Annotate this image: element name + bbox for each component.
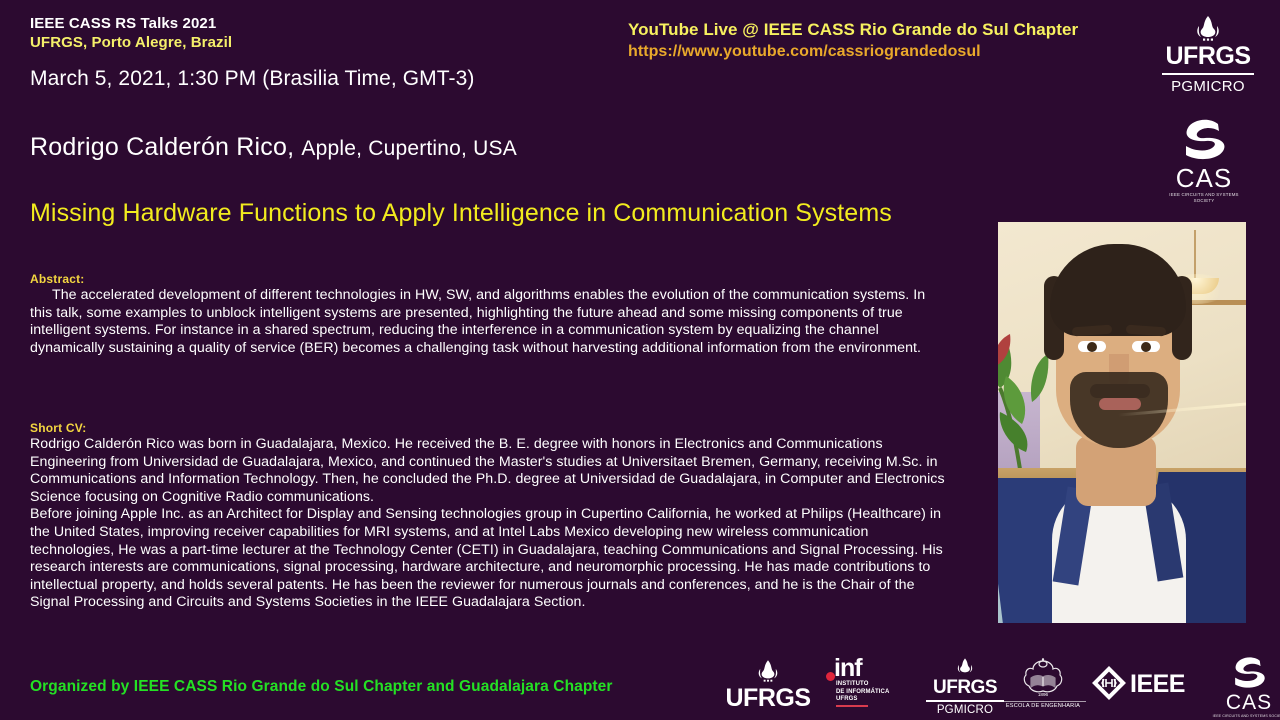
stream-url-link[interactable]: https://www.youtube.com/cassriograndedos… [628, 41, 1128, 63]
abstract-label: Abstract: [30, 272, 938, 287]
organized-by-text: Organized by IEEE CASS Rio Grande do Sul… [30, 678, 613, 696]
inf-underline [836, 705, 868, 707]
inf-line-1: INSTITUTO [820, 681, 920, 689]
footer-logo-strip: UFRGS inf INSTITUTO DE INFORMÁTICA UFRGS… [700, 652, 1270, 714]
inf-dot-icon [826, 672, 835, 681]
ufrgs-divider [1162, 73, 1254, 75]
ieee-wordmark: IEEE [1130, 670, 1185, 698]
pgmicro-ufrgs-wordmark: UFRGS [922, 677, 1008, 698]
event-header-left: IEEE CASS RS Talks 2021 UFRGS, Porto Ale… [30, 14, 650, 92]
photo-pupil-right [1141, 342, 1151, 352]
pgmicro-wordmark: PGMICRO [922, 704, 1008, 717]
svg-text:1896: 1896 [1038, 692, 1049, 697]
abstract-text: The accelerated development of different… [30, 287, 938, 357]
ufrgs-pgmicro-logo: UFRGS PGMICRO [1160, 16, 1256, 95]
speaker-affiliation: Apple, Cupertino, USA [301, 137, 516, 160]
event-location: UFRGS, Porto Alegre, Brazil [30, 33, 650, 52]
short-cv-label: Short CV: [30, 421, 945, 436]
speaker-photo [998, 222, 1246, 623]
pgmicro-wordmark: PGMICRO [1160, 78, 1256, 95]
footer-cas-logo: CAS IEEE CIRCUITS AND SYSTEMS SOCIETY [1212, 656, 1280, 719]
speaker-name: Rodrigo Calderón Rico, [30, 133, 294, 161]
photo-mouth [1099, 398, 1141, 410]
speaker-line: Rodrigo Calderón Rico, Apple, Cupertino,… [30, 133, 517, 162]
photo-moustache [1090, 384, 1150, 398]
short-cv-paragraph-2: Before joining Apple Inc. as an Architec… [30, 506, 945, 612]
short-cv-section: Short CV: Rodrigo Calderón Rico was born… [30, 421, 945, 612]
footer-ieee-logo: IEEE [1092, 670, 1222, 699]
footer-inf-logo: inf INSTITUTO DE INFORMÁTICA UFRGS [820, 656, 920, 707]
footer-ufrgs-wordmark: UFRGS [726, 684, 811, 712]
footer-escola-engenharia-logo: 1896 ESCOLA DE ENGENHARIA [1000, 656, 1086, 709]
abstract-section: Abstract: The accelerated development of… [30, 272, 938, 357]
ufrgs-wordmark: UFRGS [1160, 43, 1256, 70]
inf-line-2: DE INFORMÁTICA [820, 689, 920, 697]
ufrgs-flame-icon [1193, 16, 1223, 42]
cas-wordmark: CAS [1164, 164, 1244, 192]
cas-tagline: IEEE CIRCUITS AND SYSTEMS SOCIETY [1212, 714, 1280, 719]
escola-crest-icon: 1896 [1017, 656, 1069, 700]
cas-wordmark: CAS [1212, 691, 1280, 714]
cas-tagline: IEEE CIRCUITS AND SYSTEMS SOCIETY [1164, 192, 1244, 204]
footer-ufrgs-logo: UFRGS [712, 660, 824, 713]
photo-pupil-left [1087, 342, 1097, 352]
ufrgs-flame-icon [955, 658, 975, 676]
cas-swirl-icon [1178, 118, 1230, 162]
escola-engenharia-label: ESCOLA DE ENGENHARIA [1000, 701, 1086, 709]
pgmicro-divider [926, 700, 1004, 702]
cas-swirl-icon [1229, 656, 1269, 690]
inf-line-3: UFRGS [820, 696, 920, 704]
footer-pgmicro-logo: UFRGS PGMICRO [922, 658, 1008, 717]
event-datetime: March 5, 2021, 1:30 PM (Brasilia Time, G… [30, 66, 650, 92]
stream-info: YouTube Live @ IEEE CASS Rio Grande do S… [628, 18, 1128, 63]
short-cv-paragraph-1: Rodrigo Calderón Rico was born in Guadal… [30, 436, 945, 506]
talk-title: Missing Hardware Functions to Apply Inte… [30, 199, 892, 228]
ufrgs-flame-icon [755, 660, 781, 683]
stream-label: YouTube Live @ IEEE CASS Rio Grande do S… [628, 18, 1128, 41]
ieee-diamond-icon [1092, 666, 1126, 700]
event-name: IEEE CASS RS Talks 2021 [30, 14, 650, 33]
cas-logo-top: CAS IEEE CIRCUITS AND SYSTEMS SOCIETY [1164, 118, 1244, 204]
inf-wordmark: inf [820, 656, 920, 681]
